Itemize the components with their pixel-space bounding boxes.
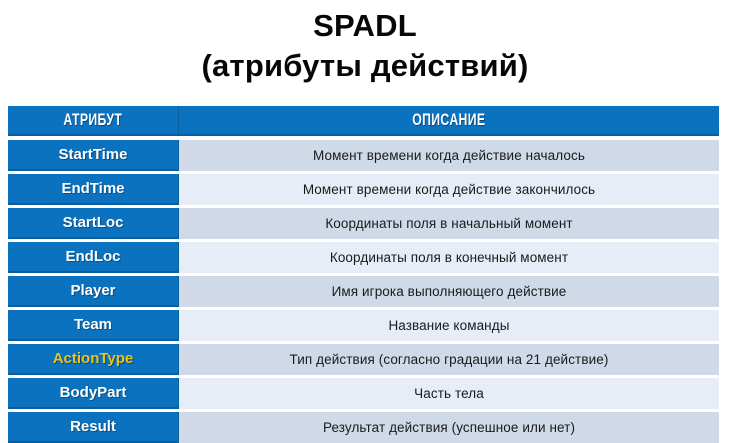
column-header-description-label: ОПИСАНИЕ — [412, 110, 485, 130]
table-body: StartTimeМомент времени когда действие н… — [8, 140, 719, 443]
cell-attribute: StartLoc — [8, 208, 179, 239]
cell-description: Координаты поля в конечный момент — [179, 242, 719, 273]
attribute-name: Player — [70, 282, 115, 299]
attributes-table: АТРИБУТ ОПИСАНИЕ StartTimeМомент времени… — [8, 106, 719, 443]
cell-description: Название команды — [179, 310, 719, 341]
table-row: BodyPartЧасть тела — [8, 378, 719, 409]
attribute-description: Результат действия (успешное или нет) — [323, 420, 575, 435]
attribute-description: Момент времени когда действие началось — [313, 148, 585, 163]
attribute-name: Team — [74, 316, 112, 333]
cell-attribute: ActionType — [8, 344, 179, 375]
attribute-name: StartTime — [59, 146, 128, 163]
cell-description: Координаты поля в начальный момент — [179, 208, 719, 239]
table-row: ActionTypeТип действия (согласно градаци… — [8, 344, 719, 375]
column-header-description: ОПИСАНИЕ — [179, 106, 719, 136]
table-row: EndTimeМомент времени когда действие зак… — [8, 174, 719, 205]
attribute-description: Момент времени когда действие закончилос… — [303, 182, 595, 197]
table-row: PlayerИмя игрока выполняющего действие — [8, 276, 719, 307]
cell-description: Имя игрока выполняющего действие — [179, 276, 719, 307]
cell-attribute: BodyPart — [8, 378, 179, 409]
attribute-description: Координаты поля в конечный момент — [330, 250, 568, 265]
cell-description: Тип действия (согласно градации на 21 де… — [179, 344, 719, 375]
table-row: ResultРезультат действия (успешное или н… — [8, 412, 719, 443]
cell-attribute: StartTime — [8, 140, 179, 171]
cell-description: Результат действия (успешное или нет) — [179, 412, 719, 443]
attribute-name: EndLoc — [66, 248, 121, 265]
cell-attribute: Team — [8, 310, 179, 341]
attribute-description: Координаты поля в начальный момент — [325, 216, 572, 231]
column-header-attribute-label: АТРИБУТ — [64, 110, 123, 130]
table-row: TeamНазвание команды — [8, 310, 719, 341]
attribute-description: Название команды — [388, 318, 509, 333]
attribute-description: Тип действия (согласно градации на 21 де… — [290, 352, 609, 367]
attribute-name: Result — [70, 418, 116, 435]
title-line-primary: SPADL — [0, 6, 730, 46]
cell-description: Часть тела — [179, 378, 719, 409]
cell-attribute: EndLoc — [8, 242, 179, 273]
attribute-description: Часть тела — [414, 386, 484, 401]
slide-root: SPADL (атрибуты действий) АТРИБУТ ОПИСАН… — [0, 0, 730, 442]
table-header-row: АТРИБУТ ОПИСАНИЕ — [8, 106, 719, 136]
cell-attribute: Player — [8, 276, 179, 307]
table-row: EndLocКоординаты поля в конечный момент — [8, 242, 719, 273]
cell-description: Момент времени когда действие началось — [179, 140, 719, 171]
table-row: StartTimeМомент времени когда действие н… — [8, 140, 719, 171]
attribute-name: ActionType — [53, 350, 134, 367]
title-line-secondary: (атрибуты действий) — [0, 46, 730, 86]
cell-description: Момент времени когда действие закончилос… — [179, 174, 719, 205]
cell-attribute: EndTime — [8, 174, 179, 205]
column-header-attribute: АТРИБУТ — [8, 106, 179, 136]
cell-attribute: Result — [8, 412, 179, 443]
attribute-name: StartLoc — [63, 214, 124, 231]
attribute-name: EndTime — [61, 180, 124, 197]
attribute-name: BodyPart — [60, 384, 127, 401]
table-row: StartLocКоординаты поля в начальный моме… — [8, 208, 719, 239]
attribute-description: Имя игрока выполняющего действие — [332, 284, 567, 299]
page-title: SPADL (атрибуты действий) — [0, 0, 730, 86]
